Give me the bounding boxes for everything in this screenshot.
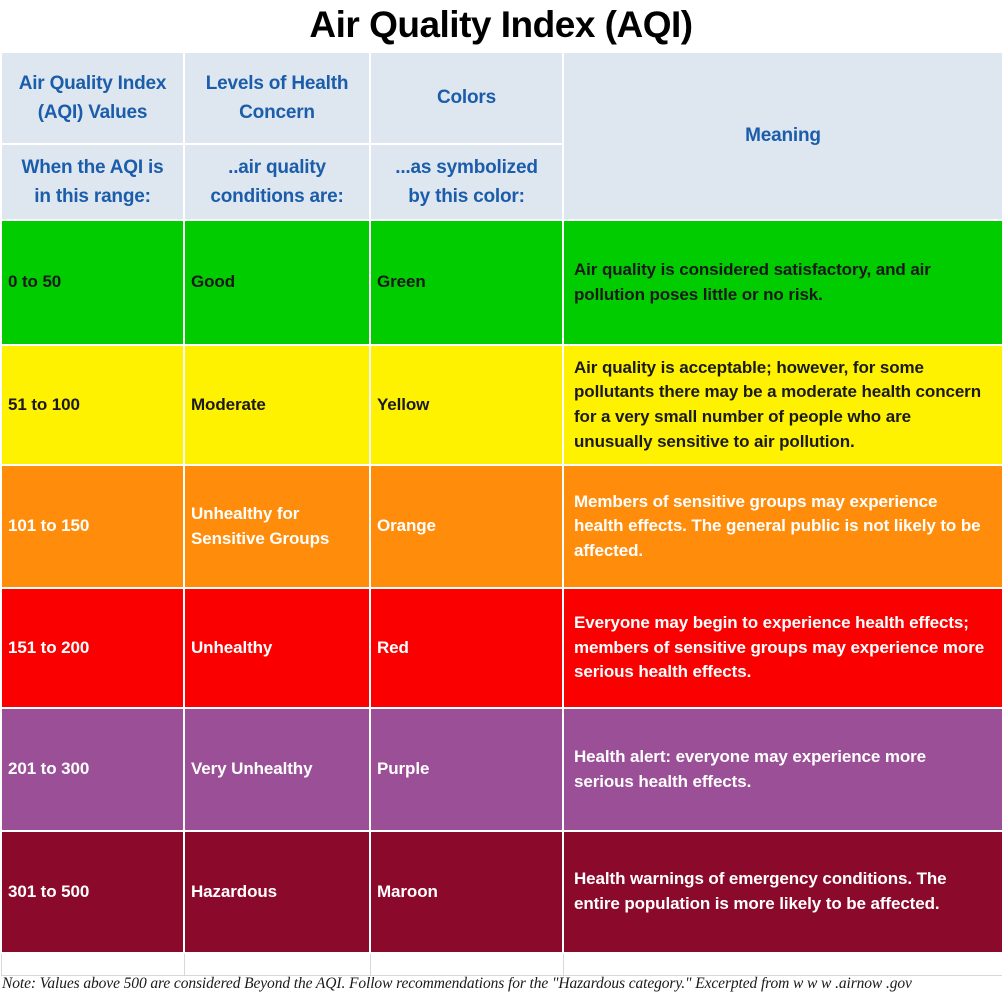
- column-subheader-symbol-color-line1: ...as symbolized: [379, 153, 554, 182]
- spacer-cell: [563, 953, 1002, 975]
- spacer-cell: [184, 953, 370, 975]
- column-subheader-symbol-color-line2: by this color:: [379, 182, 554, 211]
- column-header-aqi-values-line1: Air Quality Index: [10, 69, 175, 98]
- aqi-table: Air Quality Index (AQI) Values Levels of…: [0, 51, 1002, 976]
- column-subheader-conditions-line2: conditions are:: [193, 182, 361, 211]
- column-subheader-conditions-line1: ..air quality: [193, 153, 361, 182]
- cell-aqi-range: 201 to 300: [1, 708, 184, 831]
- aqi-chart-page: Air Quality Index (AQI) Air Quality Inde…: [0, 0, 1002, 1002]
- cell-meaning: Health alert: everyone may experience mo…: [563, 708, 1002, 831]
- cell-health-level: Hazardous: [184, 831, 370, 953]
- cell-aqi-range: 51 to 100: [1, 345, 184, 465]
- cell-color-name: Yellow: [370, 345, 563, 465]
- column-header-meaning: Meaning: [563, 52, 1002, 220]
- cell-meaning: Air quality is considered satisfactory, …: [563, 220, 1002, 345]
- table-header-row-primary: Air Quality Index (AQI) Values Levels of…: [1, 52, 1002, 144]
- cell-health-level: Unhealthy for Sensitive Groups: [184, 465, 370, 588]
- cell-color-name: Purple: [370, 708, 563, 831]
- cell-aqi-range: 151 to 200: [1, 588, 184, 708]
- column-subheader-symbol-color: ...as symbolized by this color:: [370, 144, 563, 220]
- column-header-aqi-values-line2: (AQI) Values: [10, 98, 175, 127]
- column-header-colors: Colors: [370, 52, 563, 144]
- cell-meaning: Health warnings of emergency conditions.…: [563, 831, 1002, 953]
- cell-color-name: Red: [370, 588, 563, 708]
- cell-aqi-range: 301 to 500: [1, 831, 184, 953]
- column-header-levels-line1: Levels of Health: [193, 69, 361, 98]
- page-title: Air Quality Index (AQI): [0, 2, 1002, 48]
- cell-color-name: Maroon: [370, 831, 563, 953]
- table-row: 301 to 500 Hazardous Maroon Health warni…: [1, 831, 1002, 953]
- column-subheader-conditions: ..air quality conditions are:: [184, 144, 370, 220]
- table-row: 201 to 300 Very Unhealthy Purple Health …: [1, 708, 1002, 831]
- table-row: 0 to 50 Good Green Air quality is consid…: [1, 220, 1002, 345]
- cell-meaning: Members of sensitive groups may experien…: [563, 465, 1002, 588]
- spacer-cell: [1, 953, 184, 975]
- cell-color-name: Green: [370, 220, 563, 345]
- column-header-colors-line1: Colors: [379, 83, 554, 112]
- spacer-cell: [370, 953, 563, 975]
- column-subheader-aqi-range-line2: in this range:: [10, 182, 175, 211]
- cell-meaning: Everyone may begin to experience health …: [563, 588, 1002, 708]
- table-spacer-row: [1, 953, 1002, 975]
- cell-health-level: Moderate: [184, 345, 370, 465]
- table-row: 151 to 200 Unhealthy Red Everyone may be…: [1, 588, 1002, 708]
- column-header-levels-line2: Concern: [193, 98, 361, 127]
- cell-aqi-range: 0 to 50: [1, 220, 184, 345]
- cell-meaning: Air quality is acceptable; however, for …: [563, 345, 1002, 465]
- table-row: 51 to 100 Moderate Yellow Air quality is…: [1, 345, 1002, 465]
- column-header-meaning-line1: Meaning: [572, 121, 994, 150]
- cell-health-level: Unhealthy: [184, 588, 370, 708]
- column-header-aqi-values: Air Quality Index (AQI) Values: [1, 52, 184, 144]
- column-subheader-aqi-range: When the AQI is in this range:: [1, 144, 184, 220]
- cell-color-name: Orange: [370, 465, 563, 588]
- table-row: 101 to 150 Unhealthy for Sensitive Group…: [1, 465, 1002, 588]
- cell-health-level: Good: [184, 220, 370, 345]
- cell-health-level: Very Unhealthy: [184, 708, 370, 831]
- cell-aqi-range: 101 to 150: [1, 465, 184, 588]
- column-subheader-aqi-range-line1: When the AQI is: [10, 153, 175, 182]
- footnote-note: Note: Values above 500 are considered Be…: [2, 975, 1000, 993]
- column-header-levels-of-health-concern: Levels of Health Concern: [184, 52, 370, 144]
